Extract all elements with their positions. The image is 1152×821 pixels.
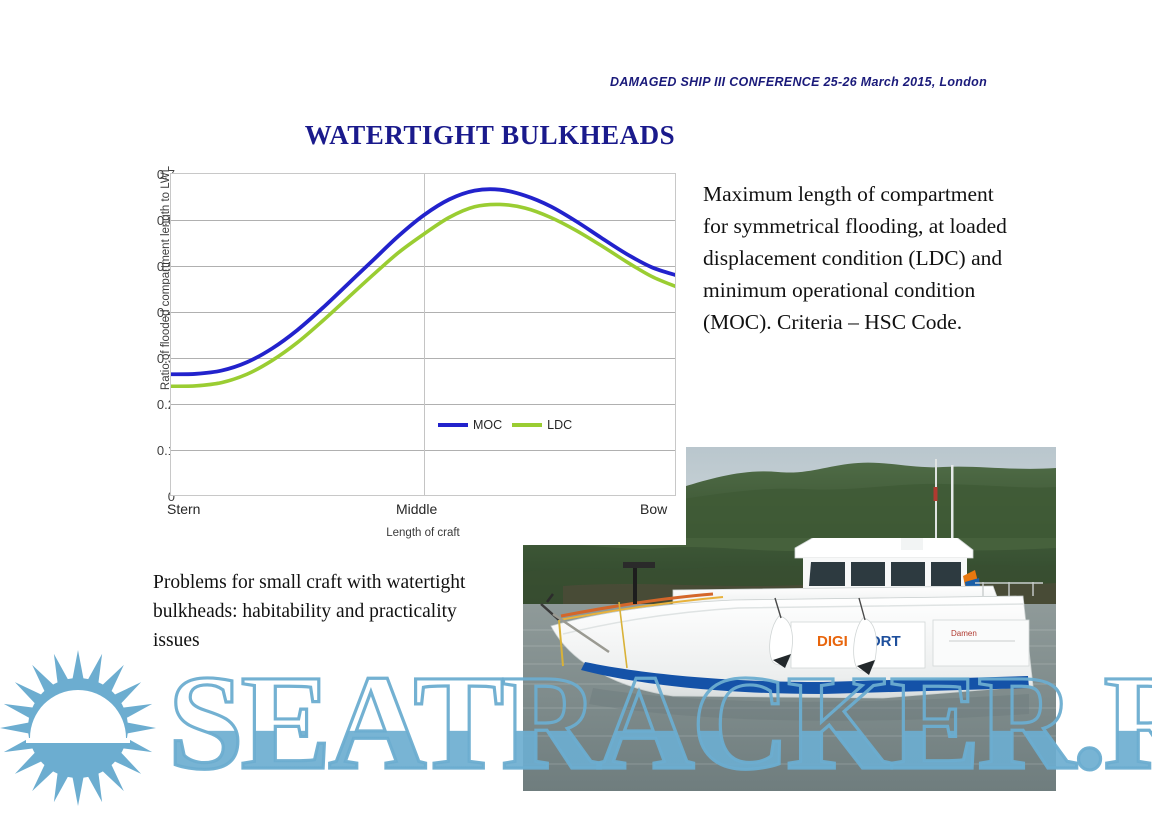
chart-series-svg	[171, 174, 676, 496]
chart-container: Ratio of flooded compartment length to L…	[118, 160, 686, 545]
photo-scene-upper	[683, 447, 1056, 539]
x-axis-tick-middle: Middle	[396, 501, 437, 517]
svg-text:Damen: Damen	[951, 629, 977, 638]
page-title: WATERTIGHT BULKHEADS	[0, 120, 1152, 151]
y-axis-tick: 0.3	[133, 352, 175, 365]
legend-entry-moc: MOC	[438, 418, 502, 432]
conference-header: DAMAGED SHIP III CONFERENCE 25-26 March …	[610, 75, 1030, 89]
legend-entry-ldc: LDC	[512, 418, 572, 432]
description-text-right: Maximum length of compartment for symmet…	[703, 178, 1023, 338]
y-axis-tick: 0.5	[133, 260, 175, 273]
description-text-left: Problems for small craft with watertight…	[153, 568, 503, 655]
legend-label-ldc: LDC	[547, 418, 572, 432]
y-axis-tick: 0.1	[133, 444, 175, 457]
series-line-moc	[171, 189, 676, 374]
y-axis-tick: 0.4	[133, 306, 175, 319]
slide-canvas: DAMAGED SHIP III CONFERENCE 25-26 March …	[0, 0, 1152, 816]
y-axis-tick: 0.7	[133, 168, 175, 181]
series-line-ldc	[171, 204, 676, 386]
y-axis-tick: 0.2	[133, 398, 175, 411]
chart-x-axis-title: Length of craft	[170, 527, 676, 539]
hull-brand-first: DIGI	[817, 633, 848, 650]
boat-photo-upper-strip	[683, 447, 1056, 539]
chart-plot-area	[170, 173, 676, 496]
photo-scene-main: DIGI PORT Damen	[523, 538, 1056, 791]
legend-swatch-moc	[438, 423, 468, 427]
legend-swatch-ldc	[512, 423, 542, 427]
page-title-text: WATERTIGHT BULKHEADS	[305, 120, 675, 150]
chart-legend: MOC LDC	[438, 418, 572, 432]
y-axis-tick: 0.6	[133, 214, 175, 227]
legend-label-moc: MOC	[473, 418, 502, 432]
x-axis-tick-stern: Stern	[167, 501, 200, 517]
sun-logo-icon	[0, 650, 156, 806]
x-axis-tick-bow: Bow	[640, 501, 667, 517]
boat-photo: DIGI PORT Damen	[523, 538, 1056, 791]
